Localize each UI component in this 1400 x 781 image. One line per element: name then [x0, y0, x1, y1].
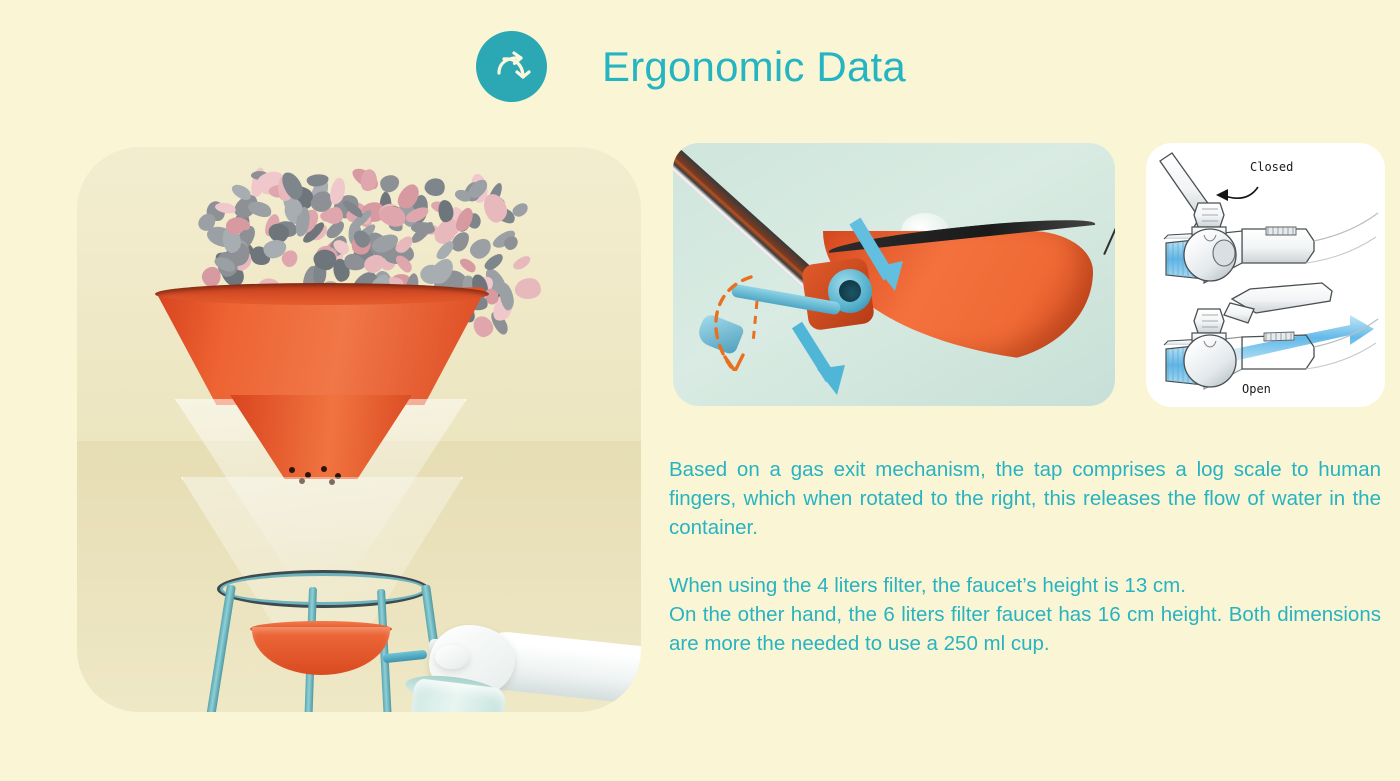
render-scene — [77, 147, 641, 712]
cone-rim — [155, 283, 489, 305]
thumb-on-tap — [435, 645, 469, 669]
body-copy: Based on a gas exit mechanism, the tap c… — [669, 455, 1381, 658]
page-title: Ergonomic Data — [602, 38, 906, 96]
paragraph-heights-line1: When using the 4 liters filter, the fauc… — [669, 571, 1381, 600]
blue-flow-arrow-in — [843, 215, 923, 305]
paragraph-mechanism: Based on a gas exit mechanism, the tap c… — [669, 455, 1381, 542]
valve-diagram-panel: Closed — [1146, 143, 1385, 407]
blue-flow-arrow-out — [789, 321, 879, 406]
valve-open-figure — [1164, 283, 1378, 389]
ball-valve-cutaway-diagram: Closed — [1146, 143, 1385, 407]
slide-header: Ergonomic Data — [0, 0, 1400, 130]
faucet-closeup-panel — [673, 143, 1115, 406]
product-render-panel — [77, 147, 641, 712]
orange-dashed-rotation-arc — [695, 271, 775, 371]
stand-ring-inner — [220, 573, 426, 605]
paragraph-spacer — [669, 542, 1381, 571]
paragraph-heights-line2: On the other hand, the 6 liters filter f… — [669, 600, 1381, 658]
rotate-arrows-icon — [476, 31, 547, 102]
closed-label-text: Closed — [1250, 160, 1293, 174]
open-label-text: Open — [1242, 382, 1271, 396]
slide-canvas: Ergonomic Data — [0, 0, 1400, 781]
